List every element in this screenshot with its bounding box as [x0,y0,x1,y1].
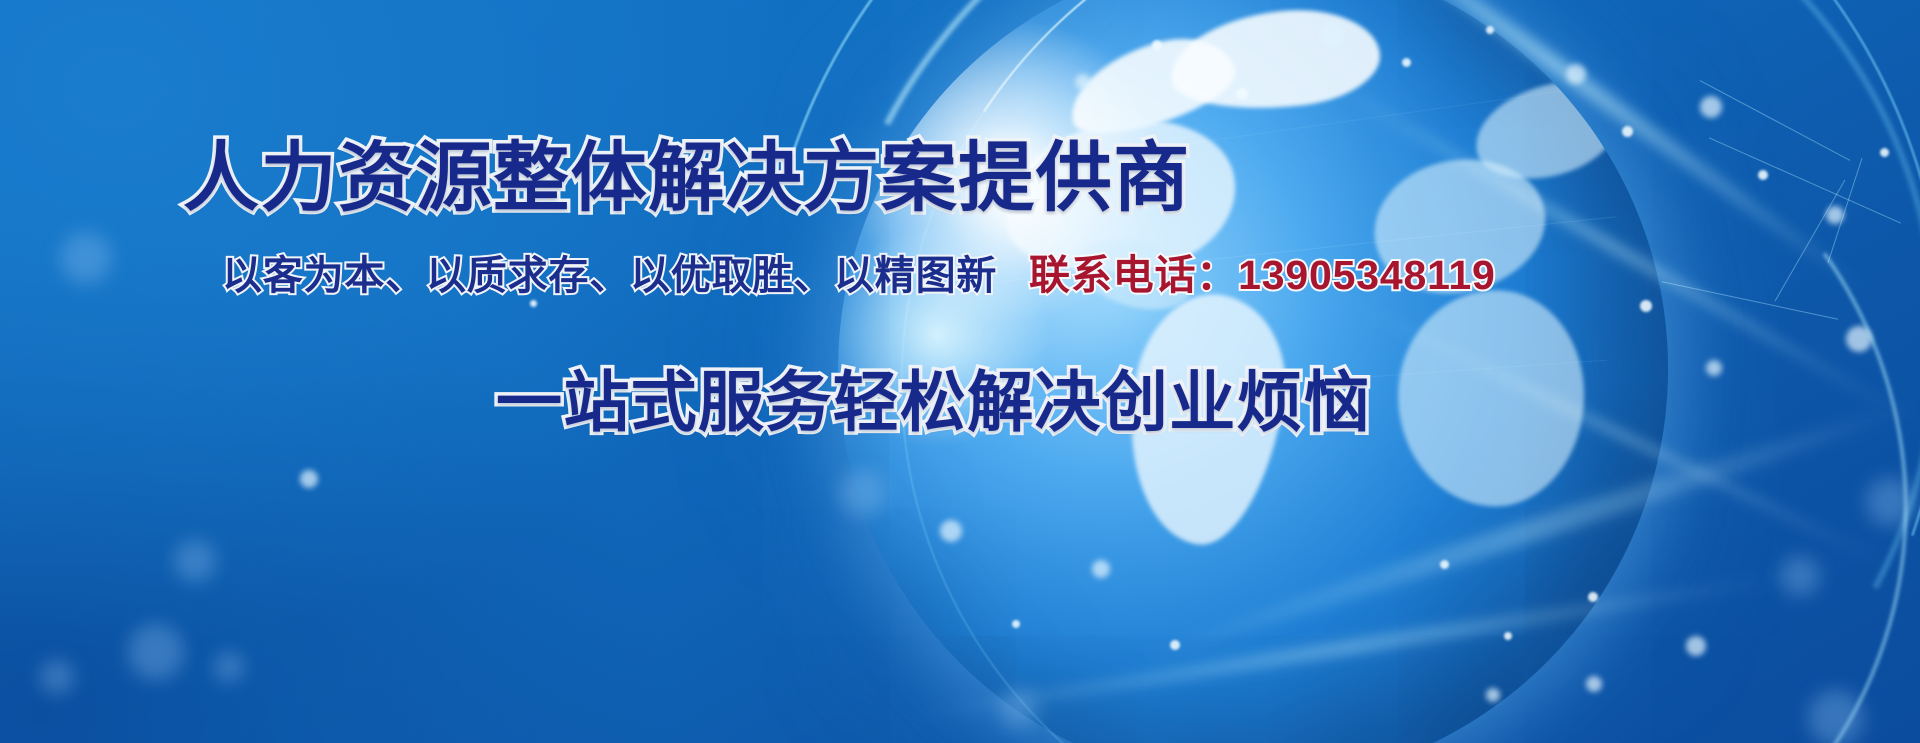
bokeh-particle-graphic [1075,74,1091,90]
continent-africa [1391,284,1592,512]
light-streak-graphic [904,570,1795,725]
bokeh-particle-graphic [1586,676,1602,692]
bokeh-particle-graphic [1866,478,1914,526]
bokeh-particle-graphic [1170,640,1180,650]
bokeh-particle-graphic [1440,560,1449,569]
bokeh-particle-graphic [1640,300,1652,312]
bokeh-particle-graphic [1706,360,1722,376]
bokeh-particle-graphic [1486,26,1494,34]
tech-grid-graphic [1700,80,1851,161]
tech-grid-graphic [1662,281,1838,319]
bokeh-particle-graphic [1152,40,1162,50]
tech-grid-graphic [1775,180,1846,302]
bokeh-particle-graphic [1700,96,1722,118]
bokeh-particle-graphic [214,652,244,682]
bokeh-particle-graphic [840,470,886,516]
bokeh-particle-graphic [1320,22,1344,46]
bokeh-particle-graphic [1826,206,1844,224]
bokeh-particle-graphic [940,520,962,542]
bokeh-particle-graphic [1504,632,1512,640]
bokeh-particle-graphic [1808,690,1864,743]
continent-arctic [1166,1,1385,118]
bokeh-particle-graphic [1588,592,1598,602]
bokeh-particle-graphic [300,470,318,488]
bokeh-particle-graphic [1880,148,1889,157]
banner-slogan: 以客为本、以质求存、以优取胜、以精图新 [222,256,997,296]
continent-asia [1465,69,1630,192]
bokeh-particle-graphic [1402,58,1411,67]
bokeh-particle-graphic [60,232,112,284]
bokeh-particle-graphic [128,624,184,680]
bokeh-particle-graphic [1566,64,1586,84]
bokeh-particle-graphic [1236,88,1248,100]
banner-tagline: 一站式服务轻松解决创业烦恼 [496,369,1371,435]
banner-canvas: 人力资源整体解决方案提供商 以客为本、以质求存、以优取胜、以精图新 联系电话：1… [0,0,1920,743]
tech-grid-graphic [1828,158,1863,263]
bokeh-particle-graphic [1000,690,1038,728]
bokeh-particle-graphic [1486,688,1500,702]
bokeh-particle-graphic [174,540,216,582]
bokeh-particle-graphic [1846,326,1872,352]
banner-headline: 人力资源整体解决方案提供商 [183,141,1191,217]
bokeh-particle-graphic [1012,620,1020,628]
continent-greenland [1059,24,1244,146]
bokeh-particle-graphic [1758,170,1768,180]
bokeh-particle-graphic [530,300,537,307]
light-streak-graphic [1304,66,1915,425]
contact-phone[interactable]: 联系电话：13905348119 [1029,255,1496,296]
tech-grid-graphic [1709,137,1901,223]
bokeh-particle-graphic [1092,560,1110,578]
bokeh-particle-graphic [1686,636,1706,656]
light-streak-graphic [1349,299,1892,569]
bokeh-particle-graphic [1622,126,1633,137]
bokeh-particle-graphic [1780,556,1820,596]
bokeh-particle-graphic [40,660,74,694]
